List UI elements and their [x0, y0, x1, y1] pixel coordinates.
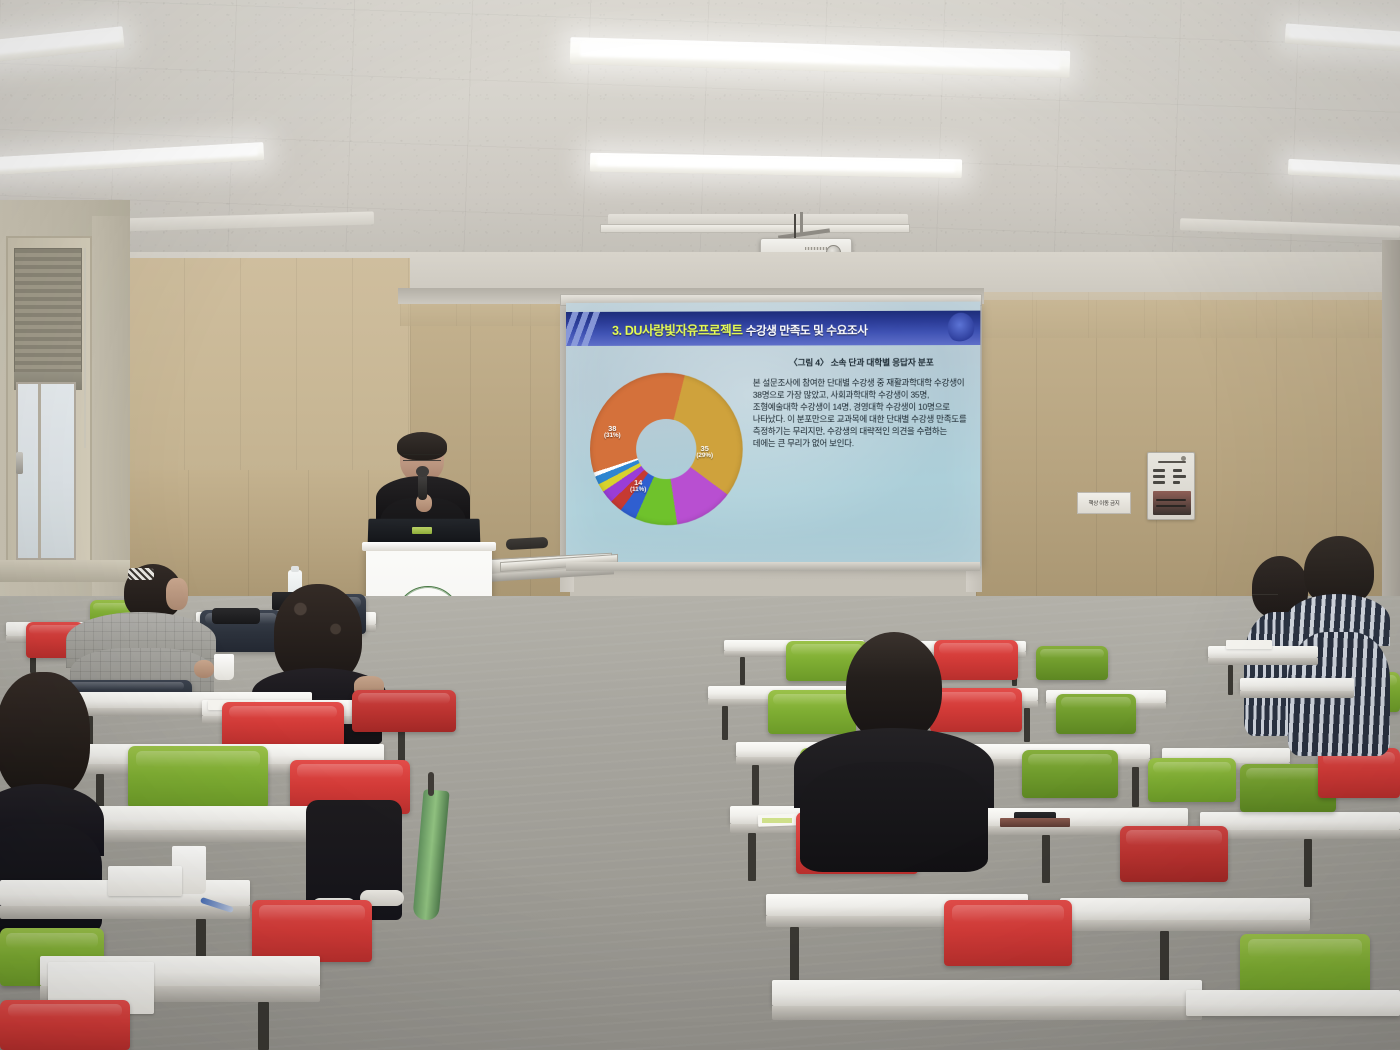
desk-r4a-leg	[748, 833, 756, 881]
chair-l2-red-2[interactable]	[352, 690, 456, 732]
podium-monitor-badge	[412, 527, 432, 534]
desk-r1a-leg	[740, 657, 745, 685]
paper-cup-1	[214, 654, 234, 680]
desk-r4b-leg	[1042, 835, 1050, 883]
window-handle-icon[interactable]	[16, 452, 23, 474]
figure-paragraph: 본 설문조사에 참여한 단대별 수강생 중 재활과학대학 수강생이 38명으로 …	[753, 377, 970, 449]
presenter-glasses-icon	[403, 454, 441, 461]
slide-text-block: 〈그림 4〉 소속 단과 대학별 응답자 분포 본 설문조사에 참여한 단대별 …	[753, 356, 970, 450]
window-mullion	[38, 384, 41, 558]
desk-right-far-2-edge	[1240, 691, 1354, 698]
notice-photo-line-1	[1156, 499, 1186, 501]
lunch-container-2	[108, 866, 182, 896]
attendee-front-left-hair	[0, 672, 90, 798]
slice-label-38-percent: (31%)	[604, 433, 621, 440]
attendee-gray-hand	[194, 660, 214, 678]
desk-right-far-edge	[1208, 658, 1318, 665]
desk-r4c-leg	[1304, 839, 1312, 887]
desk-right-far-2	[1240, 678, 1354, 691]
desk-l6-leg	[258, 1002, 269, 1050]
chair-r3-green-3[interactable]	[1148, 758, 1236, 802]
ceiling	[0, 0, 1400, 262]
slide-title: 3. DU사랑빛자유프로젝트 수강생 만족도 및 수요조사	[612, 319, 868, 339]
chair-r4-red-right[interactable]	[1120, 826, 1228, 882]
chair-r1-green-2[interactable]	[1036, 646, 1108, 680]
desk-r4c-edge	[1200, 830, 1400, 839]
window-blind-cord[interactable]	[84, 248, 86, 448]
figure-caption: 〈그림 4〉 소속 단과 대학별 응답자 분포	[753, 356, 970, 369]
window-glass	[16, 382, 76, 560]
projection-screen: 3. DU사랑빛자유프로젝트 수강생 만족도 및 수요조사 38 (31%) 3…	[566, 302, 980, 567]
slide-body: 38 (31%) 35 (29%) 14 (11%) 〈그림 4〉 소속 단과 …	[566, 354, 980, 566]
attendee-striped-2-glasses-icon	[1252, 594, 1278, 600]
notice-title-line	[1158, 461, 1186, 463]
desk-l5-edge	[0, 906, 250, 919]
notebook-on-desk-r4	[1000, 818, 1070, 827]
projector-ceiling-rail	[600, 224, 910, 233]
slice-label-35-percent: (29%)	[696, 453, 713, 460]
attendee-center-torso	[800, 762, 988, 872]
notice-line-3	[1153, 481, 1165, 484]
desk-r3a-leg	[752, 765, 759, 805]
attendee-gray-face	[166, 578, 188, 610]
desk-move-prohibited-sign: 책상 이동 금지	[1077, 492, 1131, 514]
book-on-right-desk	[1226, 640, 1272, 649]
slide-title-bar: 3. DU사랑빛자유프로젝트 수강생 만족도 및 수요조사	[566, 311, 980, 346]
desk-r6	[772, 980, 1202, 1006]
handout-accent	[762, 818, 792, 823]
chair-l2-red[interactable]	[222, 702, 344, 748]
desk-r5b	[1060, 898, 1310, 920]
window-blinds	[14, 248, 82, 390]
desk-right-far-leg	[1228, 665, 1233, 695]
notice-photo-line-2	[1156, 505, 1186, 507]
slide-title-number: 3.	[612, 323, 622, 337]
notice-line-1	[1153, 469, 1165, 472]
desk-r5a-leg	[790, 927, 799, 985]
notice-line-4	[1173, 469, 1182, 472]
desk-r2b-leg	[1024, 708, 1030, 742]
projector-control-strip	[805, 247, 827, 250]
lecture-hall-photo: 3. DU사랑빛자유프로젝트 수강생 만족도 및 수요조사 38 (31%) 3…	[0, 0, 1400, 1050]
donut-chart: 38 (31%) 35 (29%) 14 (11%)	[590, 373, 743, 526]
desk-move-prohibited-sign-text: 책상 이동 금지	[1088, 499, 1119, 507]
wall-notice-board	[1147, 452, 1195, 520]
slide-title-rest: 수강생 만족도 및 수요조사	[746, 325, 868, 337]
desk-r4c	[1200, 812, 1400, 830]
notice-photo	[1153, 491, 1191, 515]
slide-title-highlight: DU사랑빛자유프로젝트	[625, 323, 743, 337]
notice-line-5	[1173, 475, 1186, 478]
attendee-gray-hairclip-icon	[128, 568, 154, 580]
presenter-microphone-head-icon	[416, 466, 429, 477]
donut-center-hole	[636, 419, 696, 479]
equipment-on-ledge	[506, 537, 549, 550]
water-bottle-cap-icon	[291, 566, 299, 572]
chair-r5-red[interactable]	[944, 900, 1072, 966]
slice-label-14-percent: (11%)	[630, 487, 646, 494]
podium-top-surface	[362, 542, 496, 551]
attendee-center-hair	[846, 632, 942, 742]
notice-line-6	[1173, 481, 1180, 484]
desk-r3b-leg	[1132, 767, 1139, 807]
notice-line-2	[1153, 475, 1165, 478]
left-wall-column	[92, 216, 130, 596]
chair-l6-red[interactable]	[0, 1000, 130, 1050]
chair-l5-red[interactable]	[252, 900, 372, 962]
wall-wood-panel-right-upper	[976, 292, 1400, 338]
slice-label-35: 35 (29%)	[696, 445, 713, 460]
desk-r6-edge	[772, 1006, 1202, 1020]
chair-r3-green-2[interactable]	[1022, 750, 1118, 798]
slice-label-38: 38 (31%)	[604, 425, 621, 440]
screen-bottom-bar	[566, 562, 980, 571]
umbrella-handle-icon	[428, 772, 434, 796]
wall-notice-screw-icon	[1181, 456, 1186, 461]
attendee-center-bob	[790, 632, 998, 872]
slice-label-14: 14 (11%)	[630, 479, 646, 494]
desk-r2a-leg	[722, 706, 728, 740]
desk-r5b-edge	[1060, 920, 1310, 931]
chair-l3-green[interactable]	[128, 746, 268, 808]
desk-r6b	[1186, 990, 1400, 1016]
chair-r2-green-2[interactable]	[1056, 694, 1136, 734]
